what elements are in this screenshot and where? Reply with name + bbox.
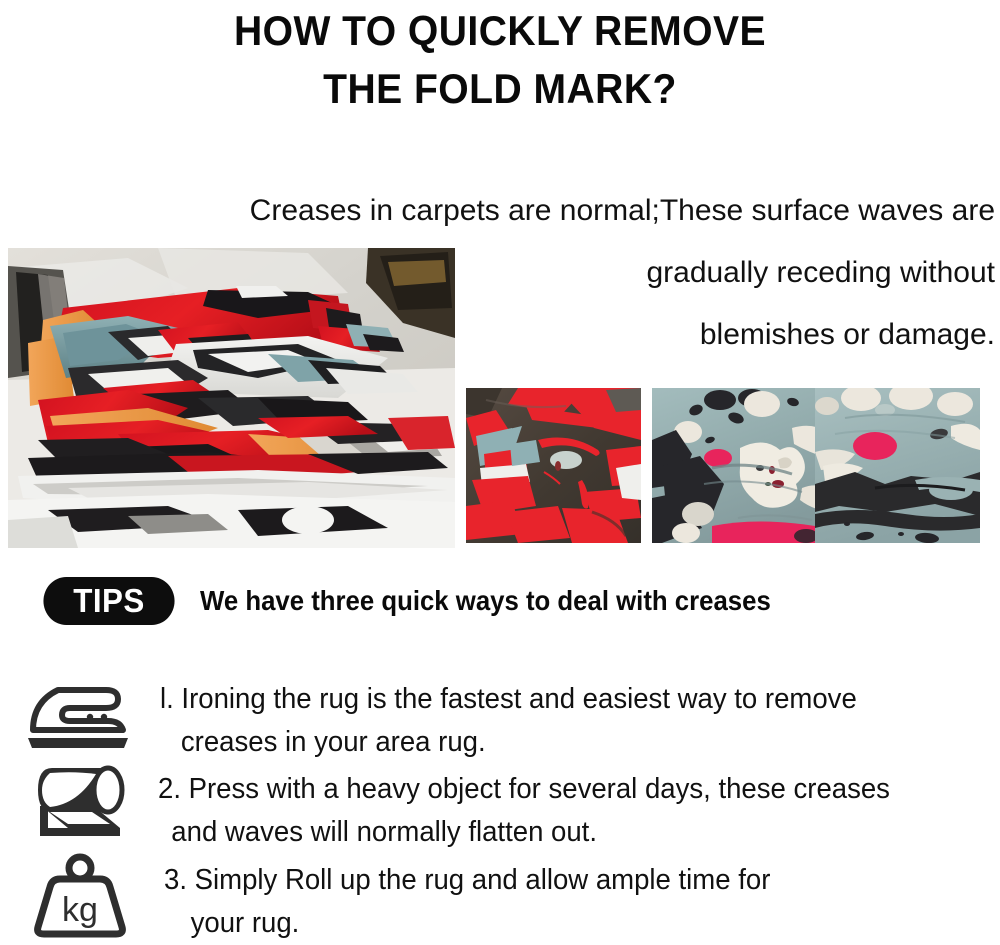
page-title: HOW TO QUICKLY REMOVE THE FOLD MARK? <box>35 2 965 118</box>
page-title-line-2: THE FOLD MARK? <box>35 60 965 118</box>
folded-rug-photo-graphic <box>8 248 455 548</box>
tips-heading: We have three quick ways to deal with cr… <box>200 585 771 617</box>
step-2-line-2: and waves will normally flatten out. <box>158 811 890 854</box>
step-2-line-1: 2. Press with a heavy object for several… <box>158 768 890 811</box>
kg-weight-icon-label: kg <box>62 891 98 929</box>
kg-weight-icon: kg <box>30 853 142 939</box>
tips-badge: TIPS <box>43 577 174 625</box>
step-1-text: l. Ironing the rug is the fastest and ea… <box>160 678 857 764</box>
rug-closeup-red-dark-graphic <box>466 388 641 543</box>
step-1-line-1: l. Ironing the rug is the fastest and ea… <box>160 678 857 721</box>
iron-icon-graphic <box>24 668 136 754</box>
intro-line-1: Creases in carpets are normal;These surf… <box>20 180 995 242</box>
rug-closeup-teal-waves <box>815 388 980 543</box>
step-3-line-2: your rug. <box>164 902 770 945</box>
step-1-line-2: creases in your area rug. <box>160 721 857 764</box>
rug-closeup-red-dark <box>466 388 641 543</box>
tips-row: TIPS We have three quick ways to deal wi… <box>40 575 820 627</box>
kg-weight-icon-graphic: kg <box>30 853 130 939</box>
step-3-line-1: 3. Simply Roll up the rug and allow ampl… <box>164 859 770 902</box>
page-title-line-1: HOW TO QUICKLY REMOVE <box>35 2 965 60</box>
step-2-text: 2. Press with a heavy object for several… <box>158 768 890 854</box>
rug-closeup-teal-waves-graphic <box>815 388 980 543</box>
step-item-2: 2. Press with a heavy object for several… <box>24 762 928 854</box>
rug-closeup-teal-blobs-graphic <box>652 388 827 543</box>
step-3-text: 3. Simply Roll up the rug and allow ampl… <box>164 859 770 945</box>
rolled-rug-icon <box>24 762 136 848</box>
step-item-1: l. Ironing the rug is the fastest and ea… <box>24 668 893 764</box>
rug-closeup-teal-blobs <box>652 388 827 543</box>
folded-rug-photo <box>8 248 455 548</box>
rolled-rug-icon-graphic <box>24 762 136 848</box>
step-item-3: kg 3. Simply Roll up the rug and allow a… <box>30 853 802 945</box>
iron-icon <box>24 668 136 754</box>
tips-badge-label: TIPS <box>73 582 145 620</box>
